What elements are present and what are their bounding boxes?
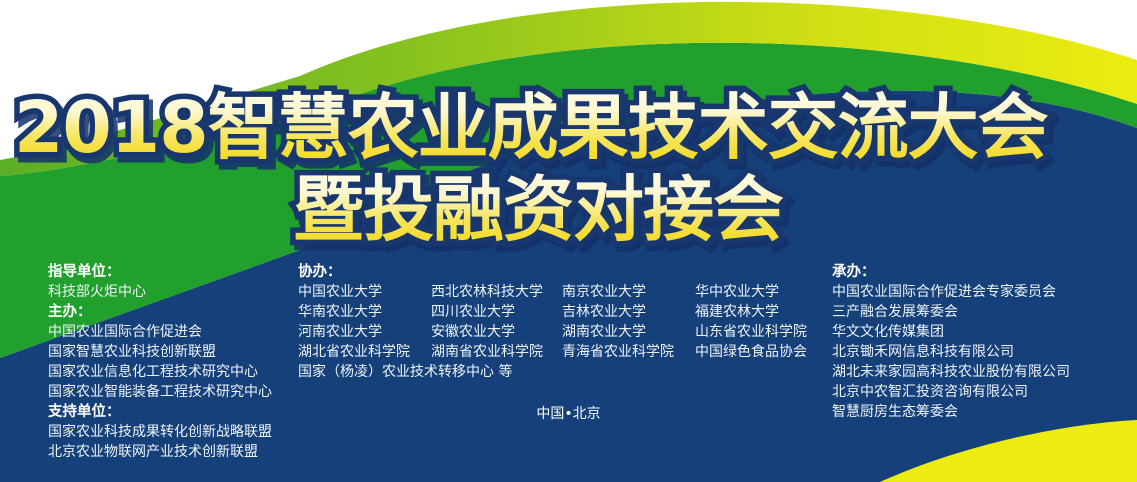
middle-cell-0-2: 南京农业大学 bbox=[562, 282, 695, 302]
middle-cell-2-3: 山东省农业科学院 bbox=[695, 322, 807, 342]
middle-cell-2-1: 安徽农业大学 bbox=[431, 322, 562, 342]
middle-row-3: 湖北省农业科学院 湖南省农业科学院 青海省农业科学院 中国绿色食品协会 bbox=[298, 342, 807, 362]
right-item-2: 华文文化传媒集团 bbox=[832, 322, 1070, 342]
left-item-0-0: 科技部火炬中心 bbox=[48, 282, 272, 302]
left-heading-1: 主办： bbox=[48, 302, 272, 322]
middle-cell-2-0: 河南农业大学 bbox=[298, 322, 431, 342]
middle-cell-0-1: 西北农林科技大学 bbox=[431, 282, 562, 302]
right-item-4: 湖北未来家园高科技农业股份有限公司 bbox=[832, 362, 1070, 382]
event-poster: 2018智慧农业成果技术交流大会 2018智慧农业成果技术交流大会 2018智慧… bbox=[0, 0, 1137, 482]
right-item-0: 中国农业国际合作促进会专家委员会 bbox=[832, 282, 1070, 302]
middle-cell-4-0: 国家（杨凌）农业技术转移中心 等 bbox=[298, 362, 512, 382]
middle-cell-3-0: 湖北省农业科学院 bbox=[298, 342, 431, 362]
column-left: 指导单位： 科技部火炬中心 主办： 中国农业国际合作促进会 国家智慧农业科技创新… bbox=[48, 262, 272, 462]
middle-cell-1-1: 四川农业大学 bbox=[431, 302, 562, 322]
middle-cell-2-2: 湖南农业大学 bbox=[562, 322, 695, 342]
right-item-3: 北京锄禾网信息科技有限公司 bbox=[832, 342, 1070, 362]
middle-cell-1-0: 华南农业大学 bbox=[298, 302, 431, 322]
organizer-columns: 指导单位： 科技部火炬中心 主办： 中国农业国际合作促进会 国家智慧农业科技创新… bbox=[0, 262, 1137, 462]
right-item-1: 三产融合发展筹委会 bbox=[832, 302, 1070, 322]
middle-cell-0-0: 中国农业大学 bbox=[298, 282, 431, 302]
right-heading: 承办： bbox=[832, 262, 1070, 282]
left-item-1-1: 国家智慧农业科技创新联盟 bbox=[48, 342, 272, 362]
column-middle: 协办： 中国农业大学 西北农林科技大学 南京农业大学 华中农业大学 华南农业大学… bbox=[298, 262, 807, 382]
middle-cell-1-3: 福建农林大学 bbox=[695, 302, 779, 322]
left-heading-0: 指导单位： bbox=[48, 262, 272, 282]
right-item-5: 北京中农智汇投资咨询有限公司 bbox=[832, 382, 1070, 402]
left-item-1-2: 国家农业信息化工程技术研究中心 bbox=[48, 362, 272, 382]
middle-row-2: 河南农业大学 安徽农业大学 湖南农业大学 山东省农业科学院 bbox=[298, 322, 807, 342]
left-item-1-3: 国家农业智能装备工程技术研究中心 bbox=[48, 382, 272, 402]
venue-label: 中国•北京 bbox=[0, 404, 1137, 424]
middle-cell-3-2: 青海省农业科学院 bbox=[562, 342, 695, 362]
middle-row-4: 国家（杨凌）农业技术转移中心 等 bbox=[298, 362, 807, 382]
left-item-1-0: 中国农业国际合作促进会 bbox=[48, 322, 272, 342]
middle-heading: 协办： bbox=[298, 262, 807, 282]
middle-row-0: 中国农业大学 西北农林科技大学 南京农业大学 华中农业大学 bbox=[298, 282, 807, 302]
left-item-2-0: 国家农业科技成果转化创新战略联盟 bbox=[48, 422, 272, 442]
middle-row-1: 华南农业大学 四川农业大学 吉林农业大学 福建农林大学 bbox=[298, 302, 807, 322]
middle-cell-1-2: 吉林农业大学 bbox=[562, 302, 695, 322]
middle-cell-3-3: 中国绿色食品协会 bbox=[695, 342, 807, 362]
middle-cell-0-3: 华中农业大学 bbox=[695, 282, 779, 302]
left-item-2-1: 北京农业物联网产业技术创新联盟 bbox=[48, 442, 272, 462]
column-right: 承办： 中国农业国际合作促进会专家委员会 三产融合发展筹委会 华文文化传媒集团 … bbox=[832, 262, 1070, 422]
middle-cell-3-1: 湖南省农业科学院 bbox=[431, 342, 562, 362]
